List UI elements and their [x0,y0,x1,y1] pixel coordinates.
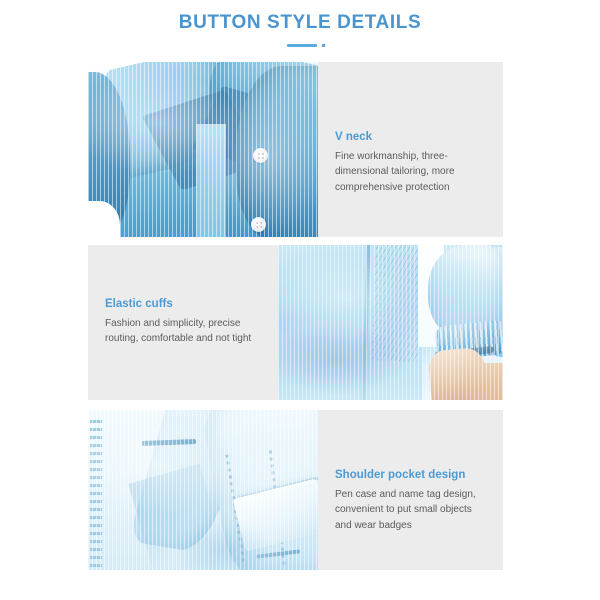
title-divider [265,41,335,51]
feature-image-v-neck [88,62,318,237]
shoulder-pocket-illustration [88,410,318,570]
feature-row-v-neck: V neck Fine workmanship, three-dimension… [88,62,503,237]
feature-title: Elastic cuffs [105,297,264,312]
feature-text-panel-elastic-cuffs: Elastic cuffs Fashion and simplicity, pr… [88,245,278,400]
divider-dot-icon [322,44,325,47]
feature-title: V neck [335,130,489,145]
shirt-button-icon [253,148,268,163]
feature-row-elastic-cuffs: Elastic cuffs Fashion and simplicity, pr… [88,245,503,400]
product-detail-page: BUTTON STYLE DETAILS [0,0,600,600]
feature-text-panel-shoulder-pocket: Shoulder pocket design Pen case and name… [318,410,503,570]
feature-description: Fine workmanship, three-dimensional tail… [335,149,489,196]
elastic-cuff-illustration [278,245,503,400]
feature-description: Pen case and name tag design, convenient… [335,487,489,534]
feature-row-shoulder-pocket: Shoulder pocket design Pen case and name… [88,410,503,570]
page-header: BUTTON STYLE DETAILS [0,0,600,55]
feature-text-panel-v-neck: V neck Fine workmanship, three-dimension… [318,62,503,237]
divider-bar-icon [287,44,317,47]
shirt-button-icon [251,217,266,232]
v-neck-illustration [88,62,318,237]
feature-image-shoulder-pocket [88,410,318,570]
feature-description: Fashion and simplicity, precise routing,… [105,316,264,347]
feature-image-elastic-cuffs [278,245,503,400]
feature-title: Shoulder pocket design [335,468,489,483]
page-title: BUTTON STYLE DETAILS [0,0,600,32]
